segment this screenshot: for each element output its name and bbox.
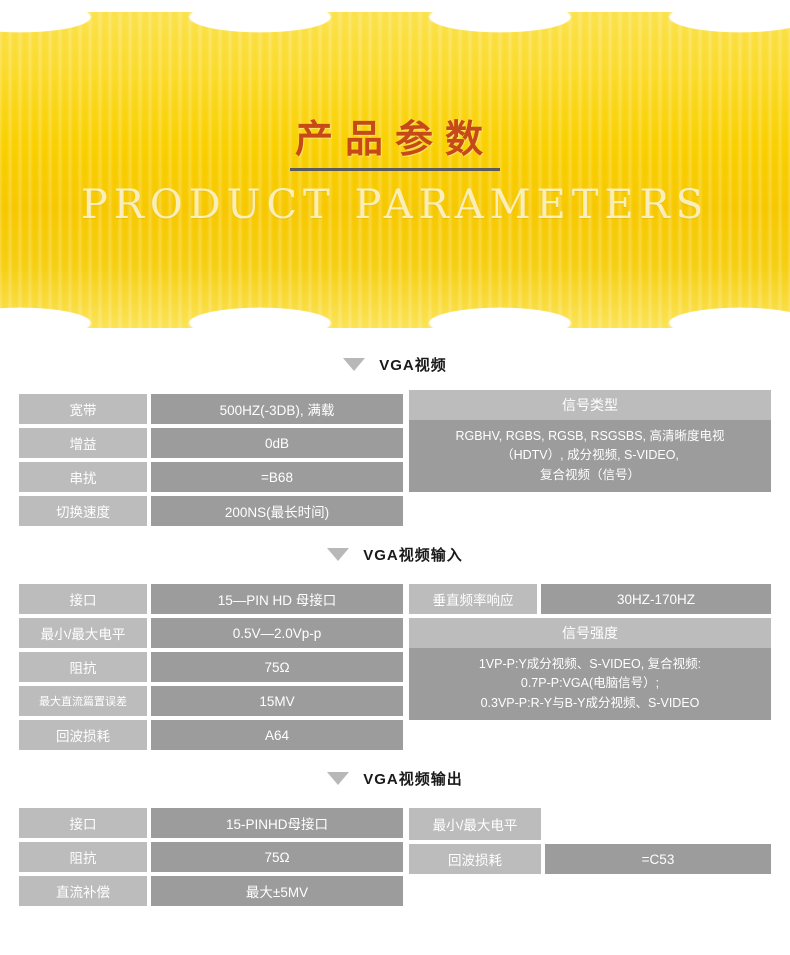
spec-key: 最大直流篇置误差	[19, 686, 147, 716]
spec-value: 30HZ-170HZ	[541, 584, 771, 614]
vga-input-right-wrap: 垂直频率响应 30HZ-170HZ 信号强度 1VP-P:Y成分视频、S-VID…	[409, 580, 771, 720]
vga-output-left-table-wrap: 接口 15-PINHD母接口 阻抗 75Ω 直流补偿 最大±5MV	[19, 804, 403, 910]
spec-value: =B68	[151, 462, 403, 492]
spec-key: 接口	[19, 584, 147, 614]
spec-value: A64	[151, 720, 403, 750]
vga-output-spec-table: 接口 15-PINHD母接口 阻抗 75Ω 直流补偿 最大±5MV	[19, 804, 403, 910]
spec-key: 直流补偿	[19, 876, 147, 906]
vga-input-spec-table: 接口 15—PIN HD 母接口 最小/最大电平 0.5V—2.0Vp-p 阻抗…	[19, 580, 403, 754]
banner-wave-top	[0, 0, 790, 34]
spec-key: 回波损耗	[409, 844, 541, 874]
spec-value: 模拟信号：0.5V-2.0V P_P	[545, 808, 771, 840]
spec-value: 0dB	[151, 428, 403, 458]
spec-value: =C53	[545, 844, 771, 874]
table-row: 串扰 =B68	[19, 462, 403, 492]
table-row: 阻抗 75Ω	[19, 652, 403, 682]
table-row: 直流补偿 最大±5MV	[19, 876, 403, 906]
spec-key: 增益	[19, 428, 147, 458]
table-row: 垂直频率响应 30HZ-170HZ	[409, 584, 771, 614]
spec-key: 垂直频率响应	[409, 584, 537, 614]
panel-title: 信号强度	[409, 618, 771, 648]
section-header-vga-video: VGA视频	[0, 344, 790, 384]
section-body-vga-video-input: 接口 15—PIN HD 母接口 最小/最大电平 0.5V—2.0Vp-p 阻抗…	[19, 580, 771, 754]
section-header-vga-video-input: VGA视频输入	[0, 534, 790, 574]
spec-key: 阻抗	[19, 842, 147, 872]
spec-value: 15—PIN HD 母接口	[151, 584, 403, 614]
panel-line: 1VP-P:Y成分视频、S-VIDEO, 复合视频:	[415, 655, 765, 674]
section-body-vga-video-output: 接口 15-PINHD母接口 阻抗 75Ω 直流补偿 最大±5MV 最小/最大电…	[19, 804, 771, 910]
spec-value: 最大±5MV	[151, 876, 403, 906]
spec-key: 回波损耗	[19, 720, 147, 750]
spec-key: 最小/最大电平	[19, 618, 147, 648]
vga-input-right-table: 垂直频率响应 30HZ-170HZ	[409, 580, 771, 618]
spec-key: 切换速度	[19, 496, 147, 526]
panel-content: RGBHV, RGBS, RGSB, RSGSBS, 高清晰度电视 （HDTV）…	[409, 420, 771, 492]
vga-input-left-table-wrap: 接口 15—PIN HD 母接口 最小/最大电平 0.5V—2.0Vp-p 阻抗…	[19, 580, 403, 754]
triangle-down-icon	[327, 548, 349, 561]
triangle-down-icon	[343, 358, 365, 371]
spec-value: 75Ω	[151, 842, 403, 872]
vga-video-signal-type-panel: 信号类型 RGBHV, RGBS, RGSB, RSGSBS, 高清晰度电视 （…	[409, 390, 771, 492]
spec-value: 0.5V—2.0Vp-p	[151, 618, 403, 648]
table-row: 接口 15—PIN HD 母接口	[19, 584, 403, 614]
spec-value: 200NS(最长时间)	[151, 496, 403, 526]
banner-title: 产品参数	[0, 108, 790, 163]
banner-divider	[290, 168, 500, 171]
table-row: 回波损耗 =C53	[409, 844, 771, 874]
table-row: 最小/最大电平 0.5V—2.0Vp-p	[19, 618, 403, 648]
table-row: 最大直流篇置误差 15MV	[19, 686, 403, 716]
spec-value: 75Ω	[151, 652, 403, 682]
spec-key: 串扰	[19, 462, 147, 492]
vga-output-right-table: 最小/最大电平 模拟信号：0.5V-2.0V P_P 回波损耗 =C53	[409, 804, 771, 878]
table-row: 阻抗 75Ω	[19, 842, 403, 872]
banner-wave-bottom	[0, 306, 790, 340]
section-title: VGA视频	[379, 354, 447, 375]
table-row: 切换速度 200NS(最长时间)	[19, 496, 403, 526]
spec-value: 500HZ(-3DB), 满载	[151, 394, 403, 424]
panel-line: 0.3VP-P:R-Y与B-Y成分视频、S-VIDEO	[415, 694, 765, 713]
section-body-vga-video: 宽带 500HZ(-3DB), 满载 增益 0dB 串扰 =B68 切换速度 2…	[19, 390, 771, 530]
spec-key: 最小/最大电平	[409, 808, 541, 840]
panel-line: 复合视频（信号）	[415, 466, 765, 485]
panel-line: （HDTV）, 成分视频, S-VIDEO,	[415, 446, 765, 465]
section-title: VGA视频输入	[363, 544, 463, 565]
spec-value: 15MV	[151, 686, 403, 716]
panel-line: 0.7P-P:VGA(电脑信号）;	[415, 674, 765, 693]
table-row: 最小/最大电平 模拟信号：0.5V-2.0V P_P	[409, 808, 771, 840]
panel-line: RGBHV, RGBS, RGSB, RSGSBS, 高清晰度电视	[415, 427, 765, 446]
panel-title: 信号类型	[409, 390, 771, 420]
product-parameters-banner: 产品参数 PRODUCT PARAMETERS	[0, 0, 790, 340]
panel-content: 1VP-P:Y成分视频、S-VIDEO, 复合视频: 0.7P-P:VGA(电脑…	[409, 648, 771, 720]
spec-key: 接口	[19, 808, 147, 838]
table-row: 回波损耗 A64	[19, 720, 403, 750]
banner-subtitle: PRODUCT PARAMETERS	[0, 182, 790, 228]
spec-value: 15-PINHD母接口	[151, 808, 403, 838]
spec-key: 阻抗	[19, 652, 147, 682]
table-row: 增益 0dB	[19, 428, 403, 458]
section-header-vga-video-output: VGA视频输出	[0, 758, 790, 798]
vga-video-spec-table: 宽带 500HZ(-3DB), 满载 增益 0dB 串扰 =B68 切换速度 2…	[19, 390, 403, 530]
triangle-down-icon	[327, 772, 349, 785]
vga-video-left-table-wrap: 宽带 500HZ(-3DB), 满载 增益 0dB 串扰 =B68 切换速度 2…	[19, 390, 403, 530]
table-row: 接口 15-PINHD母接口	[19, 808, 403, 838]
table-row: 宽带 500HZ(-3DB), 满载	[19, 394, 403, 424]
section-title: VGA视频输出	[363, 768, 463, 789]
spec-key: 宽带	[19, 394, 147, 424]
vga-output-right-wrap: 最小/最大电平 模拟信号：0.5V-2.0V P_P 回波损耗 =C53	[409, 804, 771, 878]
